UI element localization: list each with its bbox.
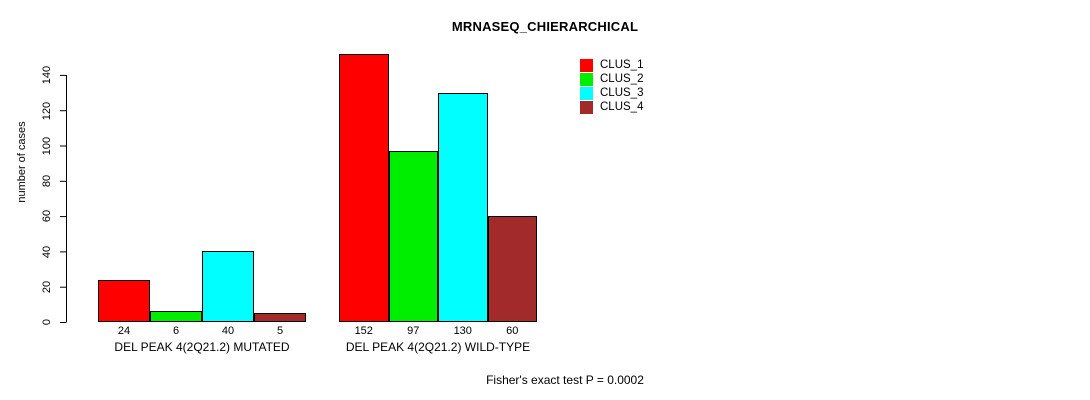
bar-value-g1-clus1: 152 [339,325,389,337]
legend-swatch-clus1 [580,59,593,72]
page-title: MRNASEQ_CHIERARCHICAL [0,19,1090,34]
bar-g0-clus3[interactable] [202,251,254,322]
legend-item-clus2[interactable]: CLUS_2 [580,72,643,86]
y-tick-20: 20 [41,267,53,307]
bar-value-g1-clus2: 97 [389,325,439,337]
bar-g1-clus3[interactable] [438,93,488,322]
legend-item-clus4[interactable]: CLUS_4 [580,100,643,114]
y-tick-120: 120 [41,91,53,131]
footnote-pvalue: Fisher's exact test P = 0.0002 [415,373,715,387]
group-label-mutated: DEL PEAK 4(2Q21.2) MUTATED [82,340,322,354]
bar-value-g1-clus3: 130 [438,325,488,337]
bar-g0-clus4[interactable] [254,313,306,322]
legend-label-clus2: CLUS_2 [600,73,643,86]
legend-item-clus3[interactable]: CLUS_3 [580,86,643,100]
y-axis-label: number of cases [16,92,28,232]
bar-g1-clus2[interactable] [389,151,439,322]
legend-item-clus1[interactable]: CLUS_1 [580,58,643,72]
y-tick-140: 140 [41,55,53,95]
bar-value-g0-clus1: 24 [98,325,150,337]
bar-g1-clus4[interactable] [488,216,538,322]
y-tick-100: 100 [41,126,53,166]
legend-swatch-clus2 [580,73,593,86]
group-label-wildtype: DEL PEAK 4(2Q21.2) WILD-TYPE [318,340,558,354]
y-tick-80: 80 [41,161,53,201]
legend-swatch-clus4 [580,101,593,114]
barplot-figure: MRNASEQ_CHIERARCHICAL number of cases 0 … [0,0,1090,400]
bar-value-g0-clus2: 6 [150,325,202,337]
y-tick-40: 40 [41,232,53,272]
bar-g1-clus1[interactable] [339,54,389,322]
bar-value-g0-clus3: 40 [202,325,254,337]
legend-label-clus4: CLUS_4 [600,101,643,114]
y-tick-0: 0 [41,302,53,342]
bar-value-g1-clus4: 60 [488,325,538,337]
legend-swatch-clus3 [580,87,593,100]
legend-label-clus1: CLUS_1 [600,59,643,72]
legend-label-clus3: CLUS_3 [600,87,643,100]
bar-value-g0-clus4: 5 [254,325,306,337]
y-tick-60: 60 [41,196,53,236]
legend: CLUS_1 CLUS_2 CLUS_3 CLUS_4 [580,58,643,114]
bar-g0-clus1[interactable] [98,280,150,322]
bar-g0-clus2[interactable] [150,311,202,322]
